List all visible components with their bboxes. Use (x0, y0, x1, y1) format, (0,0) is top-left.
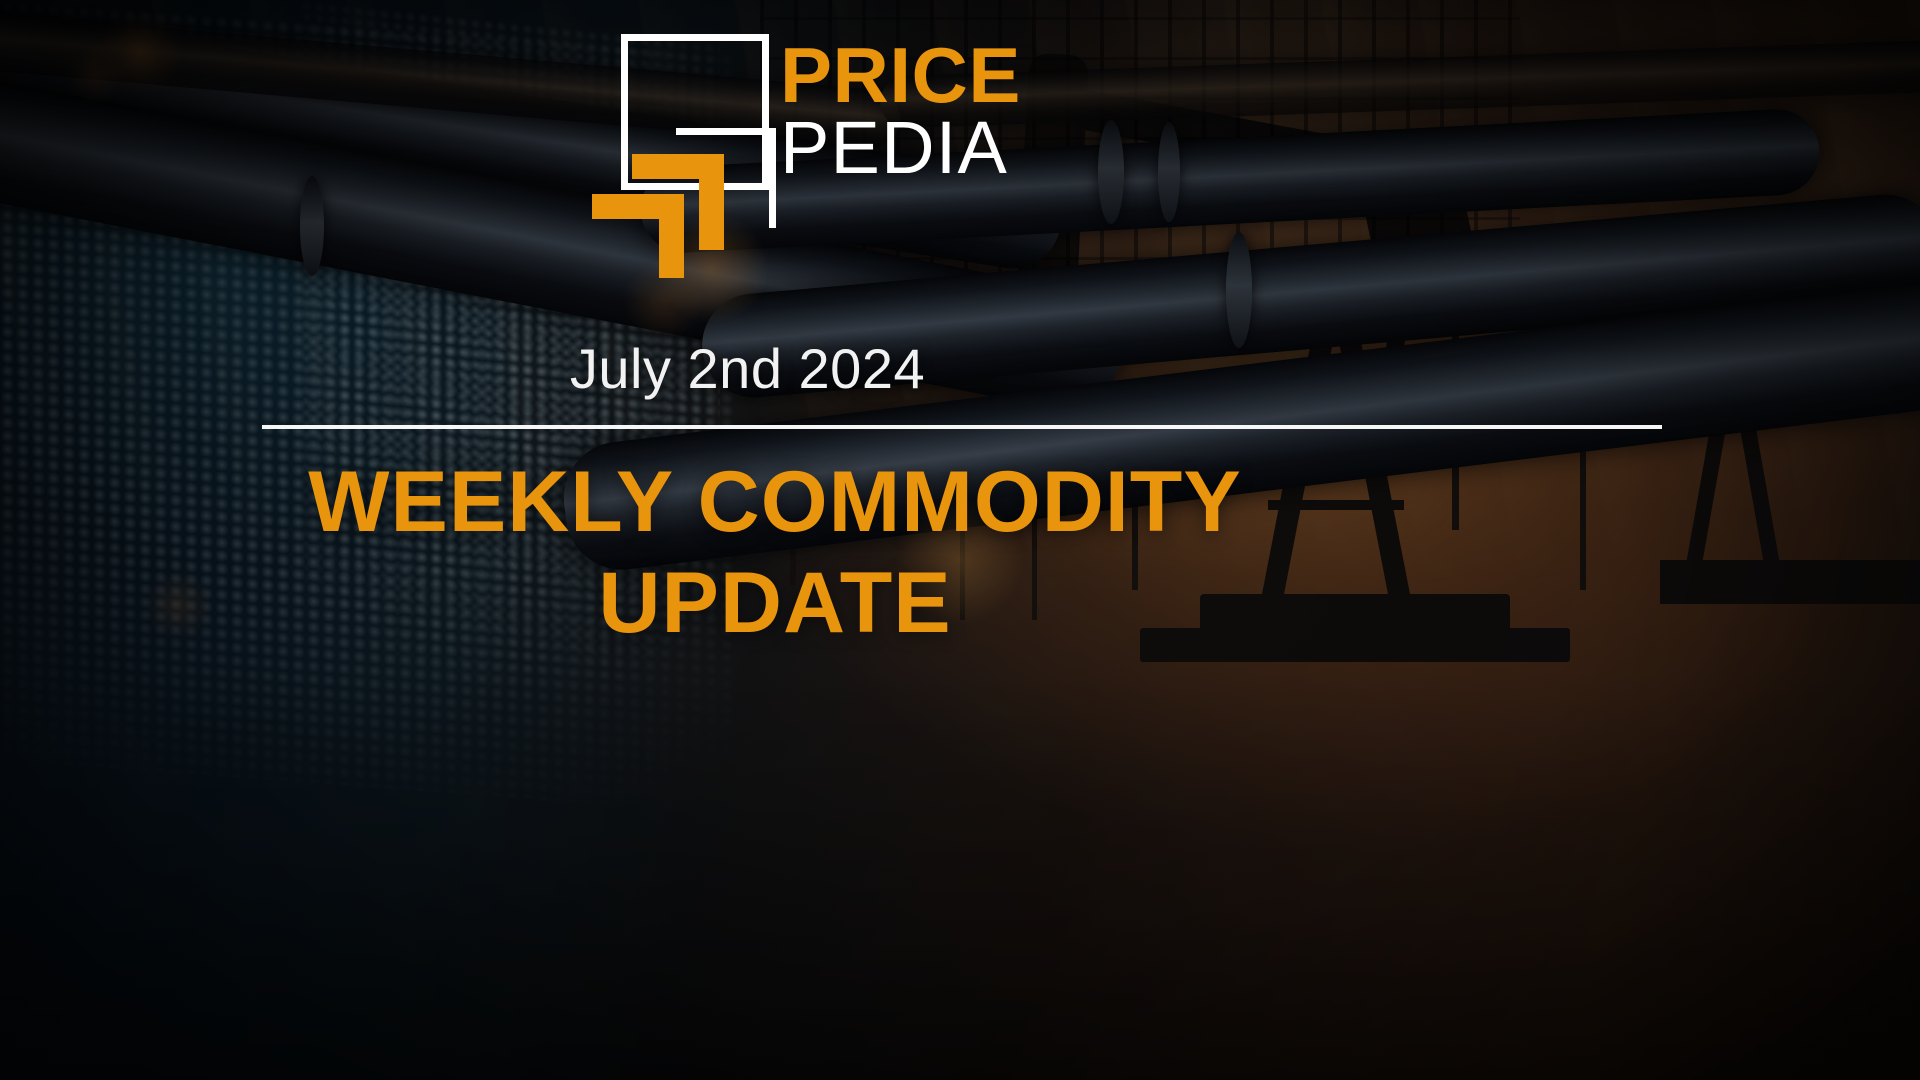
page-title-line-2: UPDATE (0, 553, 1550, 654)
page-title: WEEKLY COMMODITY UPDATE (0, 452, 1550, 655)
logo-bracket-orange-outer-icon (592, 194, 684, 278)
logo-word-price: PRICE (780, 40, 1010, 112)
logo-word-pedia: PEDIA (780, 110, 1010, 185)
slide-content: PRICE PEDIA July 2nd 2024 WEEKLY COMMODI… (0, 0, 1920, 1080)
pricepedia-logo[interactable]: PRICE PEDIA (608, 34, 1000, 240)
logo-wordmark: PRICE PEDIA (780, 40, 1010, 185)
logo-mark-icon (608, 34, 808, 240)
issue-date: July 2nd 2024 (0, 336, 1495, 401)
horizontal-divider (262, 425, 1662, 429)
page-title-line-1: WEEKLY COMMODITY (0, 452, 1550, 553)
slide-canvas: PRICE PEDIA July 2nd 2024 WEEKLY COMMODI… (0, 0, 1920, 1080)
